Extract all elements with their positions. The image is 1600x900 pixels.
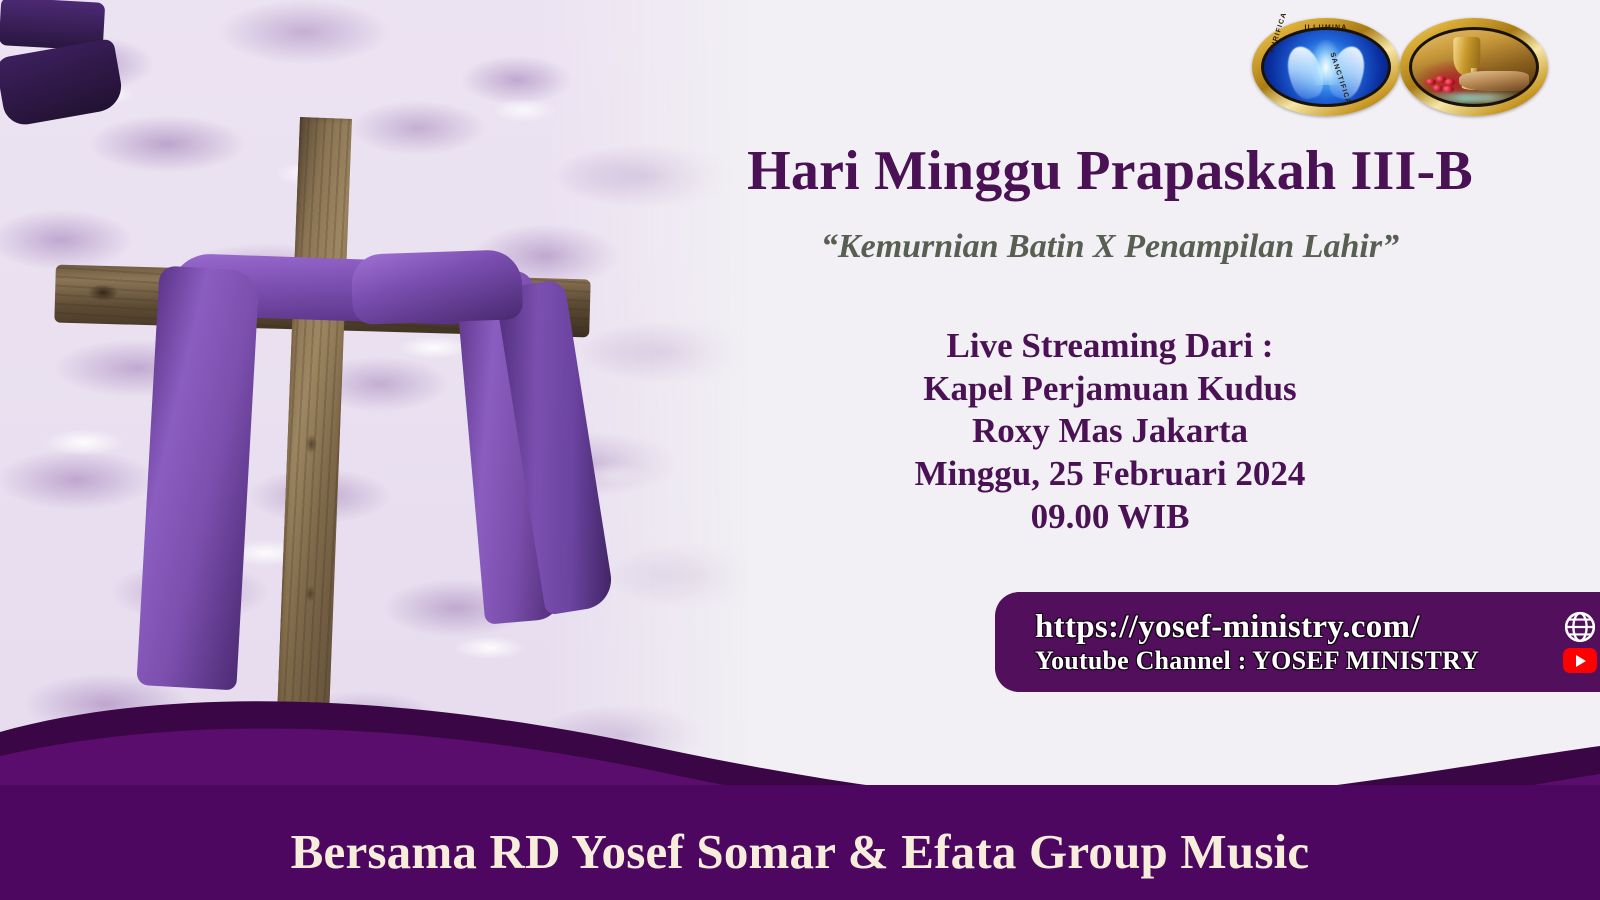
page-subtitle: “Kemurnian Batin X Penampilan Lahir” bbox=[660, 228, 1560, 266]
event-detail-line: Minggu, 25 Februari 2024 bbox=[700, 453, 1520, 496]
bread-icon bbox=[1459, 71, 1528, 90]
eucharist-glow-strip bbox=[1422, 93, 1526, 103]
seal-motto-right: SANCTIFICA bbox=[1328, 52, 1351, 106]
grape bbox=[1444, 79, 1455, 86]
poster-canvas: ILLUMINA PURIFICA SANCTIFICA bbox=[0, 0, 1600, 900]
purifica-illumina-sanctifica-seal-icon: ILLUMINA PURIFICA SANCTIFICA bbox=[1252, 18, 1400, 116]
footer-text: Bersama RD Yosef Somar & Efata Group Mus… bbox=[0, 823, 1600, 880]
eucharist-face bbox=[1412, 30, 1536, 104]
logo-group: ILLUMINA PURIFICA SANCTIFICA bbox=[1252, 18, 1548, 116]
purple-drape-left-tail bbox=[136, 266, 259, 691]
globe-icon bbox=[1563, 610, 1597, 644]
seal-motto-left: PURIFICA bbox=[1269, 11, 1289, 54]
event-details: Live Streaming Dari : Kapel Perjamuan Ku… bbox=[700, 325, 1520, 538]
event-detail-line: Kapel Perjamuan Kudus bbox=[700, 368, 1520, 411]
event-detail-line: Roxy Mas Jakarta bbox=[700, 410, 1520, 453]
seal-motto-top: ILLUMINA bbox=[1304, 25, 1347, 32]
event-detail-line: 09.00 WIB bbox=[700, 496, 1520, 539]
event-detail-line: Live Streaming Dari : bbox=[700, 325, 1520, 368]
purple-drape-knot bbox=[351, 249, 523, 325]
seal-motto-ring: ILLUMINA PURIFICA SANCTIFICA bbox=[1257, 23, 1395, 111]
purple-drape-right-tip bbox=[0, 38, 125, 128]
page-title: Hari Minggu Prapaskah III-B bbox=[660, 142, 1560, 201]
eucharist-chalice-bread-seal-icon bbox=[1400, 18, 1548, 116]
